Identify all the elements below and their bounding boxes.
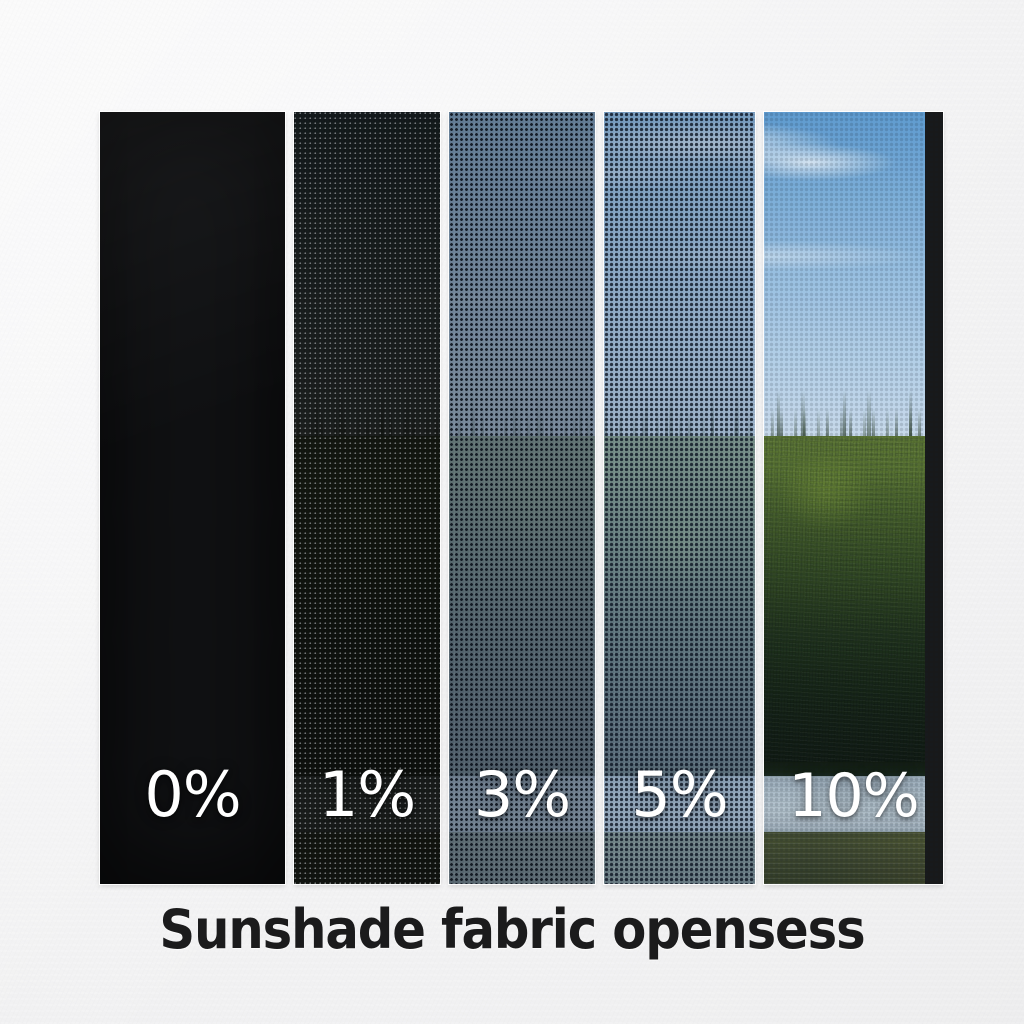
figure-caption: Sunshade fabric opensess xyxy=(41,898,983,961)
openness-label-1: 1% xyxy=(294,764,440,826)
fabric-panel-1[interactable]: 1% xyxy=(294,112,440,884)
panel-strip: 0% 1% xyxy=(100,112,925,884)
openness-label-5: 5% xyxy=(604,764,755,826)
comparison-figure: 0% 1% xyxy=(0,0,1024,1024)
forest-texture xyxy=(449,436,595,768)
openness-label-3: 3% xyxy=(449,764,595,826)
fabric-panel-5[interactable]: 5% xyxy=(604,112,755,884)
fabric-panel-3[interactable]: 3% xyxy=(449,112,595,884)
fabric-panel-10[interactable]: 10% xyxy=(764,112,943,884)
openness-label-10: 10% xyxy=(764,766,943,826)
forest-texture xyxy=(764,436,925,768)
openness-label-0: 0% xyxy=(100,764,285,826)
forest-texture xyxy=(604,436,755,768)
fabric-panel-0[interactable]: 0% xyxy=(100,112,285,884)
forest-texture xyxy=(100,436,285,768)
forest-texture xyxy=(294,436,440,768)
